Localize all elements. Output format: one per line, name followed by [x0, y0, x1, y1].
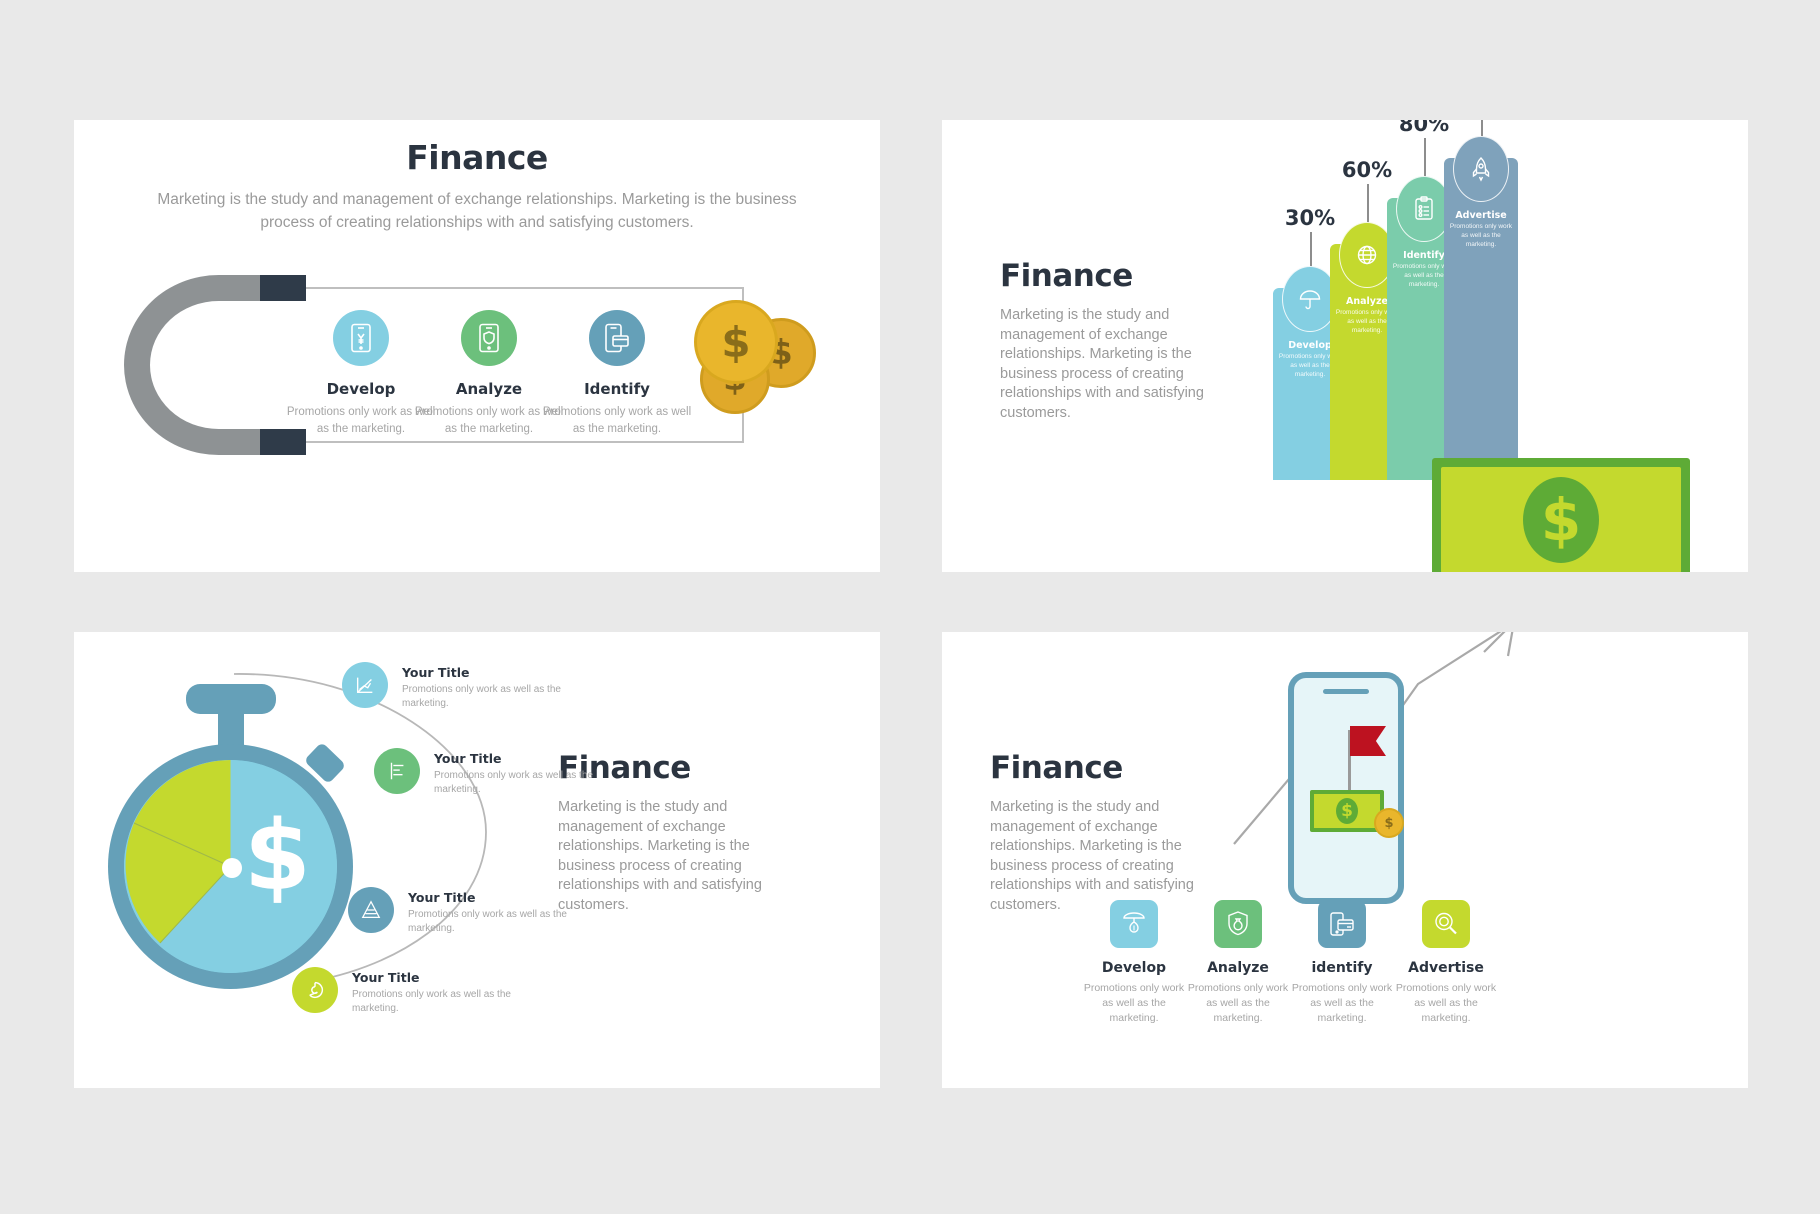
- text-block: Finance Marketing is the study and manag…: [990, 750, 1205, 915]
- list-item[interactable]: Your Title Promotions only work as well …: [292, 967, 512, 1016]
- list-item-title: Your Title: [352, 970, 512, 985]
- list-item-text: Your Title Promotions only work as well …: [402, 662, 562, 711]
- feature-label: Analyze: [1182, 960, 1294, 976]
- page-subtitle: Marketing is the study and management of…: [146, 188, 808, 235]
- list-item-desc: Promotions only work as well as the mark…: [402, 683, 562, 711]
- pyramid-icon: [348, 887, 394, 933]
- feature-label: Develop: [1078, 960, 1190, 976]
- phone-shield-icon: [461, 310, 517, 366]
- phone-yen-icon: [333, 310, 389, 366]
- list-item-title: Your Title: [434, 751, 594, 766]
- banknote-dollar-sign: $: [1523, 477, 1599, 563]
- slide-stopwatch[interactable]: Finance Marketing is the study and manag…: [74, 632, 880, 1088]
- page-subtitle: Marketing is the study and management of…: [1000, 306, 1210, 423]
- horseshoe-magnet-icon: [124, 275, 294, 455]
- slide-mobile-growth[interactable]: Finance Marketing is the study and manag…: [942, 632, 1748, 1088]
- pie-chart: $: [124, 760, 337, 973]
- feature-item-develop[interactable]: Develop Promotions only work as well as …: [1078, 900, 1190, 1027]
- dollar-sign: $: [244, 808, 311, 904]
- list-item-title: Your Title: [402, 665, 562, 680]
- area-chart-icon: [342, 662, 388, 708]
- page-subtitle: Marketing is the study and management of…: [558, 798, 773, 915]
- bar-chart-icon: [374, 748, 420, 794]
- bar-leader-line: [1310, 232, 1312, 268]
- magnifier-coin-icon: [1422, 900, 1470, 948]
- banknote-inner: $: [1314, 794, 1380, 828]
- feature-desc: Promotions only work as well as the mark…: [1286, 981, 1398, 1027]
- frame-line-bottom: [306, 441, 744, 443]
- bar-leader-line: [1367, 184, 1369, 224]
- rocket-icon: [1453, 136, 1509, 202]
- bar-chart: 30% Develop Promotions only work as well…: [1242, 120, 1742, 572]
- feature-label: Identify: [542, 380, 692, 398]
- bar-value-label: 80%: [1379, 120, 1469, 136]
- feature-item-identify[interactable]: Identify Promotions only work as well as…: [542, 310, 692, 437]
- list-item-text: Your Title Promotions only work as well …: [408, 887, 568, 936]
- feature-desc: Promotions only work as well as the mark…: [542, 404, 692, 437]
- feature-item-identify[interactable]: identify Promotions only work as well as…: [1286, 900, 1398, 1027]
- feature-label: identify: [1286, 960, 1398, 976]
- list-item[interactable]: Your Title Promotions only work as well …: [348, 887, 568, 936]
- list-item[interactable]: Your Title Promotions only work as well …: [342, 662, 562, 711]
- coin-front: $: [694, 300, 778, 384]
- banknote-dollar-sign: $: [1336, 798, 1358, 824]
- list-item-desc: Promotions only work as well as the mark…: [434, 769, 594, 797]
- smartphone-icon[interactable]: $ $: [1288, 672, 1404, 904]
- list-item-desc: Promotions only work as well as the mark…: [352, 988, 512, 1016]
- shield-moneybag-icon: [1214, 900, 1262, 948]
- list-item-text: Your Title Promotions only work as well …: [352, 967, 512, 1016]
- slide-deck-canvas: Finance Marketing is the study and manag…: [0, 0, 1820, 1214]
- red-flag-icon: [1350, 726, 1386, 756]
- page-title: Finance: [1000, 258, 1210, 294]
- stopwatch-crown: [186, 684, 276, 714]
- bar-value-label: 60%: [1322, 158, 1412, 182]
- slide-magnet-funnel[interactable]: Finance Marketing is the study and manag…: [74, 120, 880, 572]
- feature-desc: Promotions only work as well as the mark…: [1182, 981, 1294, 1027]
- list-item-text: Your Title Promotions only work as well …: [434, 748, 594, 797]
- coin-stack-icon: $ $ $: [694, 300, 834, 430]
- magnet-pole-top-icon: [260, 275, 306, 301]
- bar-advertise[interactable]: Advertise Promotions only work as well a…: [1444, 158, 1518, 480]
- banknote-icon: $: [1310, 790, 1384, 832]
- mobile-card-icon: [1318, 900, 1366, 948]
- umbrella-money-icon: [1110, 900, 1158, 948]
- bar-leader-line: [1424, 138, 1426, 178]
- phone-speaker: [1323, 689, 1369, 694]
- banknote-inner: $: [1441, 467, 1681, 572]
- coin-icon: $: [1374, 808, 1404, 838]
- text-block: Finance Marketing is the study and manag…: [1000, 258, 1210, 423]
- list-item-desc: Promotions only work as well as the mark…: [408, 908, 568, 936]
- bar-description: Promotions only work as well as the mark…: [1444, 221, 1518, 249]
- bar-value-label: 30%: [1265, 206, 1355, 230]
- slide-bar-chart[interactable]: Finance Marketing is the study and manag…: [942, 120, 1748, 572]
- stopwatch-hub: [222, 858, 242, 878]
- feature-desc: Promotions only work as well as the mark…: [1390, 981, 1502, 1027]
- dollar-banknote-icon: $: [1432, 458, 1690, 572]
- list-item-title: Your Title: [408, 890, 568, 905]
- feature-item-analyze[interactable]: Analyze Promotions only work as well as …: [1182, 900, 1294, 1027]
- page-subtitle: Marketing is the study and management of…: [990, 798, 1205, 915]
- bar-category-label: Advertise: [1444, 210, 1518, 221]
- phone-card-icon: [589, 310, 645, 366]
- feature-item-advertise[interactable]: Advertise Promotions only work as well a…: [1390, 900, 1502, 1027]
- list-item[interactable]: Your Title Promotions only work as well …: [374, 748, 594, 797]
- page-title: Finance: [74, 138, 880, 177]
- page-title: Finance: [990, 750, 1205, 786]
- stopwatch-dollar-icon: $: [108, 674, 368, 1004]
- stopwatch-bezel: $: [108, 744, 353, 989]
- donut-chart-icon: [292, 967, 338, 1013]
- frame-line-top: [306, 287, 744, 289]
- feature-desc: Promotions only work as well as the mark…: [1078, 981, 1190, 1027]
- feature-label: Advertise: [1390, 960, 1502, 976]
